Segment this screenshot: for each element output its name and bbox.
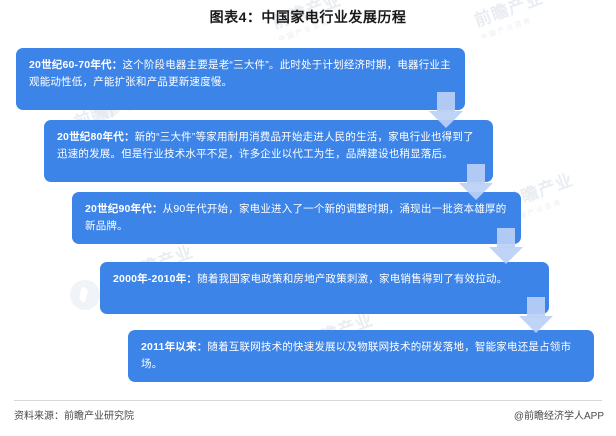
page-title: 图表4：中国家电行业发展历程 (0, 7, 616, 27)
timeline-step-4[interactable]: 2000年-2010年：随着我国家电政策和房地产政策刺激，家电销售得到了有效拉动… (100, 262, 549, 314)
flow-arrow-head (489, 247, 523, 264)
timeline-step-1-separator: ： (112, 59, 123, 71)
timeline-step-4-body: 随着我国家电政策和房地产政策刺激，家电销售得到了有效拉动。 (197, 273, 507, 285)
flow-arrow-down-3 (489, 228, 523, 264)
timeline-step-3-text: 20世纪90年代：从90年代开始，家电业进入了一个新的调整时期，涌现出一批资本雄… (85, 201, 509, 235)
flow-arrow-head (519, 316, 553, 333)
source-label: 资料来源：前瞻产业研究院 (14, 407, 134, 422)
timeline-step-2-period: 20世纪80年代 (57, 131, 124, 143)
timeline-step-2-separator: ： (124, 131, 135, 143)
flow-arrow-shaft (527, 297, 545, 317)
flow-arrow-shaft (437, 92, 455, 112)
timeline-step-5-text: 2011年以来：随着互联网技术的快速发展以及物联网技术的研发落地，智能家电还是占… (141, 339, 582, 373)
timeline-step-2-text: 20世纪80年代：新的“三大件”等家用耐用消费品开始走进人民的生活，家电行业也得… (57, 129, 481, 163)
timeline-step-5-separator: ： (197, 341, 208, 353)
timeline-step-3-period: 20世纪90年代 (85, 203, 152, 215)
timeline-step-1[interactable]: 20世纪60-70年代：这个阶段电器主要是老“三大件”。此时处于计划经济时期，电… (16, 48, 465, 110)
timeline-step-3[interactable]: 20世纪90年代：从90年代开始，家电业进入了一个新的调整时期，涌现出一批资本雄… (72, 192, 521, 244)
timeline-step-1-text: 20世纪60-70年代：这个阶段电器主要是老“三大件”。此时处于计划经济时期，电… (29, 57, 453, 91)
timeline-step-2[interactable]: 20世纪80年代：新的“三大件”等家用耐用消费品开始走进人民的生活，家电行业也得… (44, 120, 493, 182)
timeline-step-5[interactable]: 2011年以来：随着互联网技术的快速发展以及物联网技术的研发落地，智能家电还是占… (128, 330, 594, 382)
flow-arrow-shaft (497, 228, 515, 248)
timeline-step-4-separator: ： (186, 273, 197, 285)
chart-canvas: 前瞻产业 中国产业咨询 前瞻产业 中国产业咨询 前瞻产业 中国产业咨询 前瞻产业… (0, 0, 616, 436)
timeline-step-4-period: 2000年-2010年 (113, 273, 186, 285)
flow-arrow-head (429, 111, 463, 128)
timeline-step-1-period: 20世纪60-70年代 (29, 59, 112, 71)
flow-arrow-shaft (467, 164, 485, 184)
flow-arrow-head (459, 183, 493, 200)
attribution-label: @前瞻经济学人APP (514, 407, 604, 422)
timeline-flowchart: 20世纪60-70年代：这个阶段电器主要是老“三大件”。此时处于计划经济时期，电… (0, 0, 616, 436)
timeline-step-5-period: 2011年以来 (141, 341, 197, 353)
timeline-step-3-separator: ： (152, 203, 163, 215)
flow-arrow-down-1 (429, 92, 463, 128)
flow-arrow-down-4 (519, 297, 553, 333)
flow-arrow-down-2 (459, 164, 493, 200)
timeline-step-4-text: 2000年-2010年：随着我国家电政策和房地产政策刺激，家电销售得到了有效拉动… (113, 271, 537, 288)
